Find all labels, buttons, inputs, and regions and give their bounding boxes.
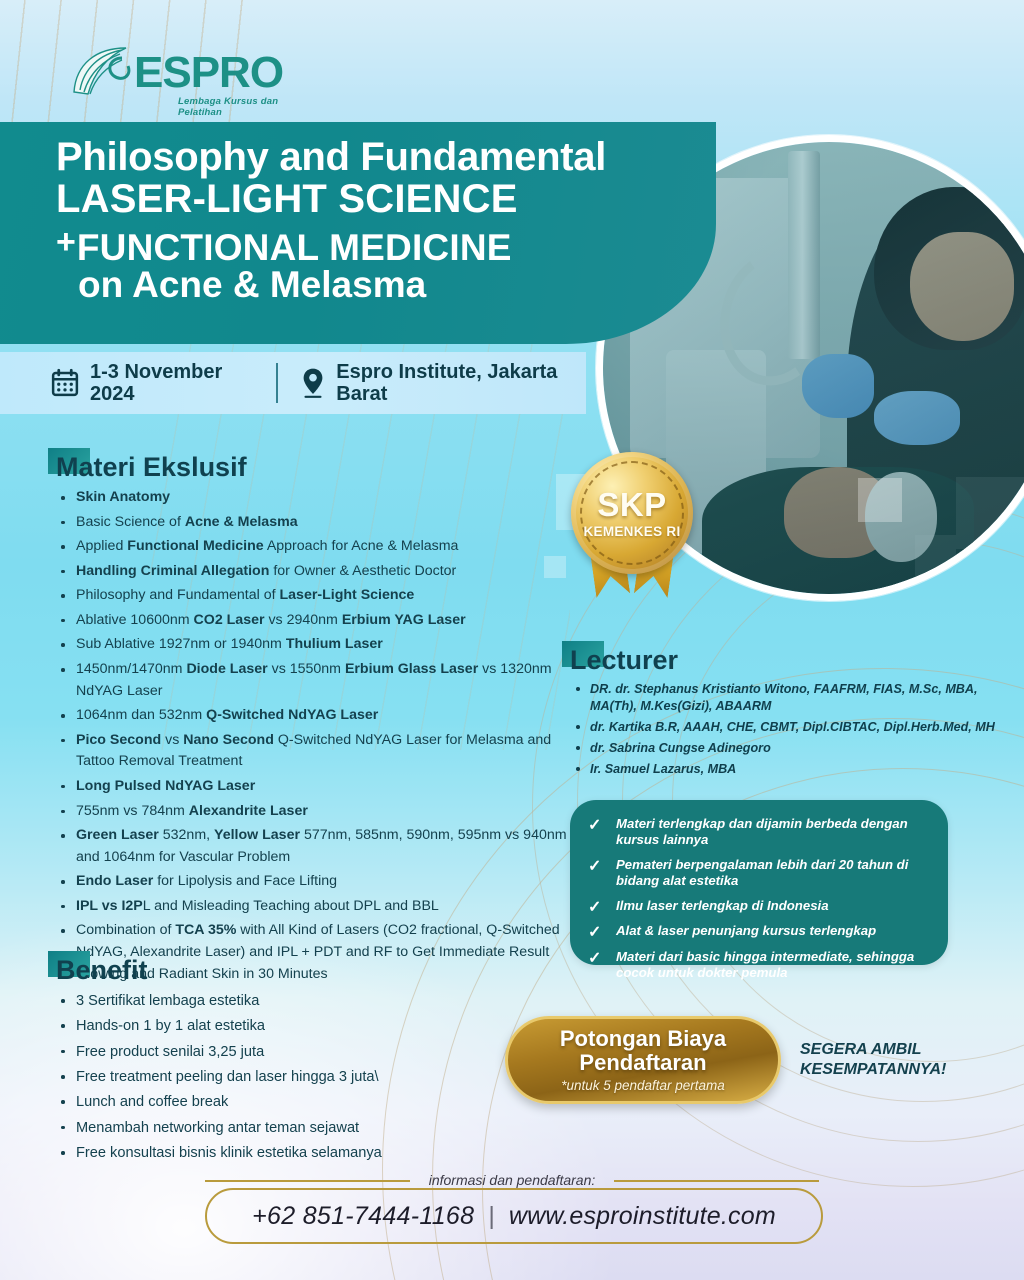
footer-contact-pill[interactable]: +62 851-7444-1168 | www.esproinstitute.c… — [205, 1188, 823, 1244]
list-item: 1450nm/1470nm Diode Laser vs 1550nm Erbi… — [56, 659, 576, 702]
benefit-list: 3 Sertifikat lembaga estetikaHands-on 1 … — [56, 990, 526, 1165]
title-plus: + — [56, 229, 76, 256]
section-benefit: Benefit 3 Sertifikat lembaga estetikaHan… — [56, 955, 526, 1167]
list-item: IPL vs I2PL and Misleading Teaching abou… — [56, 896, 576, 918]
event-location-label: Espro Institute, Jakarta Barat — [336, 361, 586, 406]
list-item: Menambah networking antar teman sejawat — [56, 1117, 526, 1140]
list-item: Ir. Samuel Lazarus, MBA — [570, 761, 1010, 778]
list-item: ✓Materi dari basic hingga intermediate, … — [586, 949, 930, 981]
brand-logo[interactable]: ESPRO Lembaga Kursus dan Pelatihan — [60, 36, 310, 110]
materi-heading: Materi Ekslusif — [56, 452, 247, 483]
list-item: Green Laser 532nm, Yellow Laser 577nm, 5… — [56, 825, 576, 868]
list-item: Long Pulsed NdYAG Laser — [56, 776, 576, 798]
benefit-heading: Benefit — [56, 955, 148, 986]
event-date: 1-3 November 2024 — [0, 361, 252, 406]
list-item: Philosophy and Fundamental of Laser-Ligh… — [56, 585, 576, 607]
list-item: Handling Criminal Allegation for Owner &… — [56, 561, 576, 583]
info-divider — [276, 363, 278, 403]
title-line-2: LASER-LIGHT SCIENCE — [56, 178, 676, 220]
promo-badge[interactable]: Potongan Biaya Pendaftaran *untuk 5 pend… — [505, 1016, 781, 1104]
decor-square-3 — [858, 478, 902, 522]
promo-note: *untuk 5 pendaftar pertama — [561, 1078, 725, 1093]
lecturer-heading-label: Lecturer — [570, 645, 678, 675]
list-item: Pico Second vs Nano Second Q-Switched Nd… — [56, 730, 576, 773]
poster-root: ESPRO Lembaga Kursus dan Pelatihan Philo… — [0, 0, 1024, 1280]
list-item: 755nm vs 784nm Alexandrite Laser — [56, 801, 576, 823]
list-item: Applied Functional Medicine Approach for… — [56, 536, 576, 558]
title-line-4: on Acne & Melasma — [78, 266, 676, 305]
list-item: ✓Pemateri berpengalaman lebih dari 20 ta… — [586, 857, 930, 889]
check-icon: ✓ — [588, 949, 601, 969]
promo-line-2: Pendaftaran — [579, 1050, 706, 1075]
title-line-1: Philosophy and Fundamental — [56, 136, 676, 178]
list-item: ✓Ilmu laser terlengkap di Indonesia — [586, 898, 930, 914]
check-icon: ✓ — [588, 816, 601, 836]
list-item: DR. dr. Stephanus Kristianto Witono, FAA… — [570, 681, 1010, 715]
footer-divider: | — [488, 1202, 495, 1231]
list-item: Free product senilai 3,25 juta — [56, 1041, 526, 1064]
footer-website[interactable]: www.esproinstitute.com — [509, 1202, 776, 1231]
calendar-icon — [50, 368, 80, 398]
list-item: dr. Sabrina Cungse Adinegoro — [570, 740, 1010, 757]
title-banner: Philosophy and Fundamental LASER-LIGHT S… — [0, 122, 716, 344]
footer-rule-left — [205, 1180, 410, 1182]
list-item: 3 Sertifikat lembaga estetika — [56, 990, 526, 1013]
promo-cta: SEGERA AMBIL KESEMPATANNYA! — [800, 1040, 1000, 1079]
map-pin-icon — [300, 367, 326, 399]
title-line-3: FUNCTIONAL MEDICINE — [77, 229, 512, 266]
promo-line-1: Potongan Biaya — [560, 1026, 726, 1051]
benefit-heading-label: Benefit — [56, 955, 148, 985]
list-item: Free konsultasi bisnis klinik estetika s… — [56, 1142, 526, 1165]
event-location: Espro Institute, Jakarta Barat — [300, 361, 586, 406]
footer-rule-right — [614, 1180, 819, 1182]
list-item: Basic Science of Acne & Melasma — [56, 512, 576, 534]
brand-tagline: Lembaga Kursus dan Pelatihan — [178, 96, 310, 118]
materi-list: Skin AnatomyBasic Science of Acne & Mela… — [56, 487, 576, 985]
list-item: Ablative 10600nm CO2 Laser vs 2940nm Erb… — [56, 610, 576, 632]
list-item: Lunch and coffee break — [56, 1091, 526, 1114]
section-materi: Materi Ekslusif Skin AnatomyBasic Scienc… — [56, 452, 576, 988]
badge-line-2: KEMENKES RI — [583, 524, 680, 539]
section-lecturer: Lecturer DR. dr. Stephanus Kristianto Wi… — [570, 645, 1010, 782]
list-item: dr. Kartika B.R, AAAH, CHE, CBMT, Dipl.C… — [570, 719, 1010, 736]
brand-name: ESPRO — [134, 48, 283, 98]
list-item: Free treatment peeling dan laser hingga … — [56, 1066, 526, 1089]
check-icon: ✓ — [588, 923, 601, 943]
footer-phone[interactable]: +62 851-7444-1168 — [252, 1202, 474, 1231]
highlights-panel: ✓Materi terlengkap dan dijamin berbeda d… — [570, 800, 948, 965]
list-item: ✓Alat & laser penunjang kursus terlengka… — [586, 923, 930, 939]
event-info-bar: 1-3 November 2024 Espro Institute, Jakar… — [0, 352, 586, 414]
footer-label: informasi dan pendaftaran: — [0, 1172, 1024, 1188]
espro-leaf-icon — [66, 42, 140, 104]
list-item: Sub Ablative 1927nm or 1940nm Thulium La… — [56, 634, 576, 656]
list-item: 1064nm dan 532nm Q-Switched NdYAG Laser — [56, 705, 576, 727]
materi-heading-label: Materi Ekslusif — [56, 452, 247, 482]
highlights-list: ✓Materi terlengkap dan dijamin berbeda d… — [570, 800, 948, 981]
check-icon: ✓ — [588, 898, 601, 918]
lecturer-heading: Lecturer — [570, 645, 678, 676]
list-item: Skin Anatomy — [56, 487, 576, 509]
list-item: ✓Materi terlengkap dan dijamin berbeda d… — [586, 816, 930, 848]
list-item: Endo Laser for Lipolysis and Face Liftin… — [56, 871, 576, 893]
check-icon: ✓ — [588, 857, 601, 877]
skp-badge: SKP KEMENKES RI — [559, 450, 707, 602]
badge-line-1: SKP — [597, 488, 666, 521]
medal-coin-icon: SKP KEMENKES RI — [571, 452, 693, 574]
list-item: Hands-on 1 by 1 alat estetika — [56, 1015, 526, 1038]
event-date-label: 1-3 November 2024 — [90, 361, 252, 406]
lecturer-list: DR. dr. Stephanus Kristianto Witono, FAA… — [570, 681, 1010, 778]
